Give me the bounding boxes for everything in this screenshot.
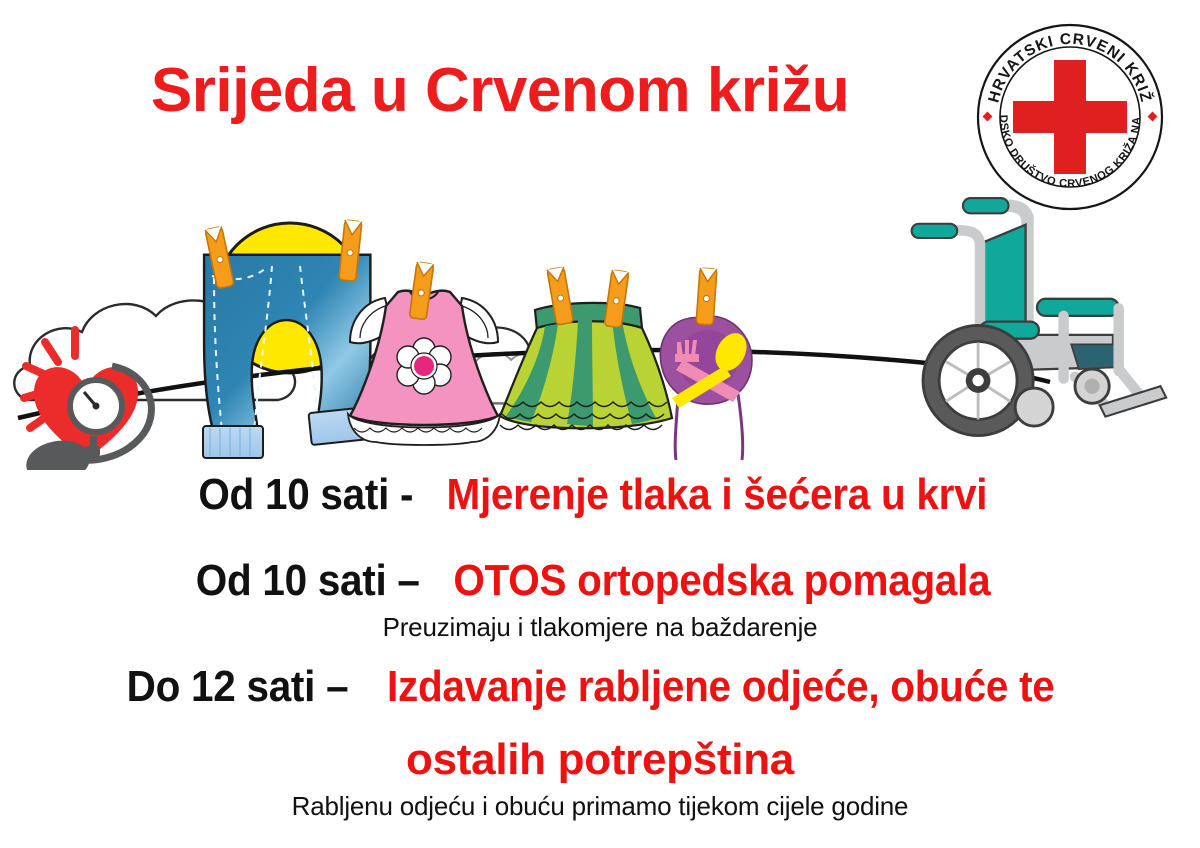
schedule-note-2: Preuzimaju i tlakomjere na baždarenje [0,612,1200,643]
schedule-activity-2: OTOS ortopedska pomagala [453,556,990,606]
schedule-line-1: Od 10 sati - Mjerenje tlaka i šećera u k… [0,470,1200,520]
schedule-note-3: Rabljenu odjeću i obuću primamo tijekom … [0,791,1200,822]
schedule-line-3: Do 12 sati – Izdavanje rabljene odjeće, … [0,662,1200,712]
dress-flower [397,338,451,394]
wheelchair-icon [912,198,1167,436]
poster-illustration [0,170,1180,470]
schedule-time-3: Do 12 sati – [126,662,348,712]
page-title: Srijeda u Crvenom križu [0,58,1000,123]
schedule-activity-3: Izdavanje rabljene odjeće, obuće te [387,662,1055,712]
schedule-line-2: Od 10 sati – OTOS ortopedska pomagala [0,556,1200,606]
schedule-time-1: Od 10 sati - [199,470,414,520]
schedule-activity-3-line2: ostalih potrepština [0,735,1200,785]
purple-bib-icon [660,316,752,460]
green-striped-skirt-icon [500,303,672,430]
schedule-time-2: Od 10 sati – [196,556,420,606]
clothespin-icon [696,268,717,325]
schedule-activity-1: Mjerenje tlaka i šećera u krvi [446,470,987,520]
poster-canvas: Srijeda u Crvenom križu HRVATSKI CRVENI … [0,0,1200,848]
jeans-cuff [203,426,263,458]
